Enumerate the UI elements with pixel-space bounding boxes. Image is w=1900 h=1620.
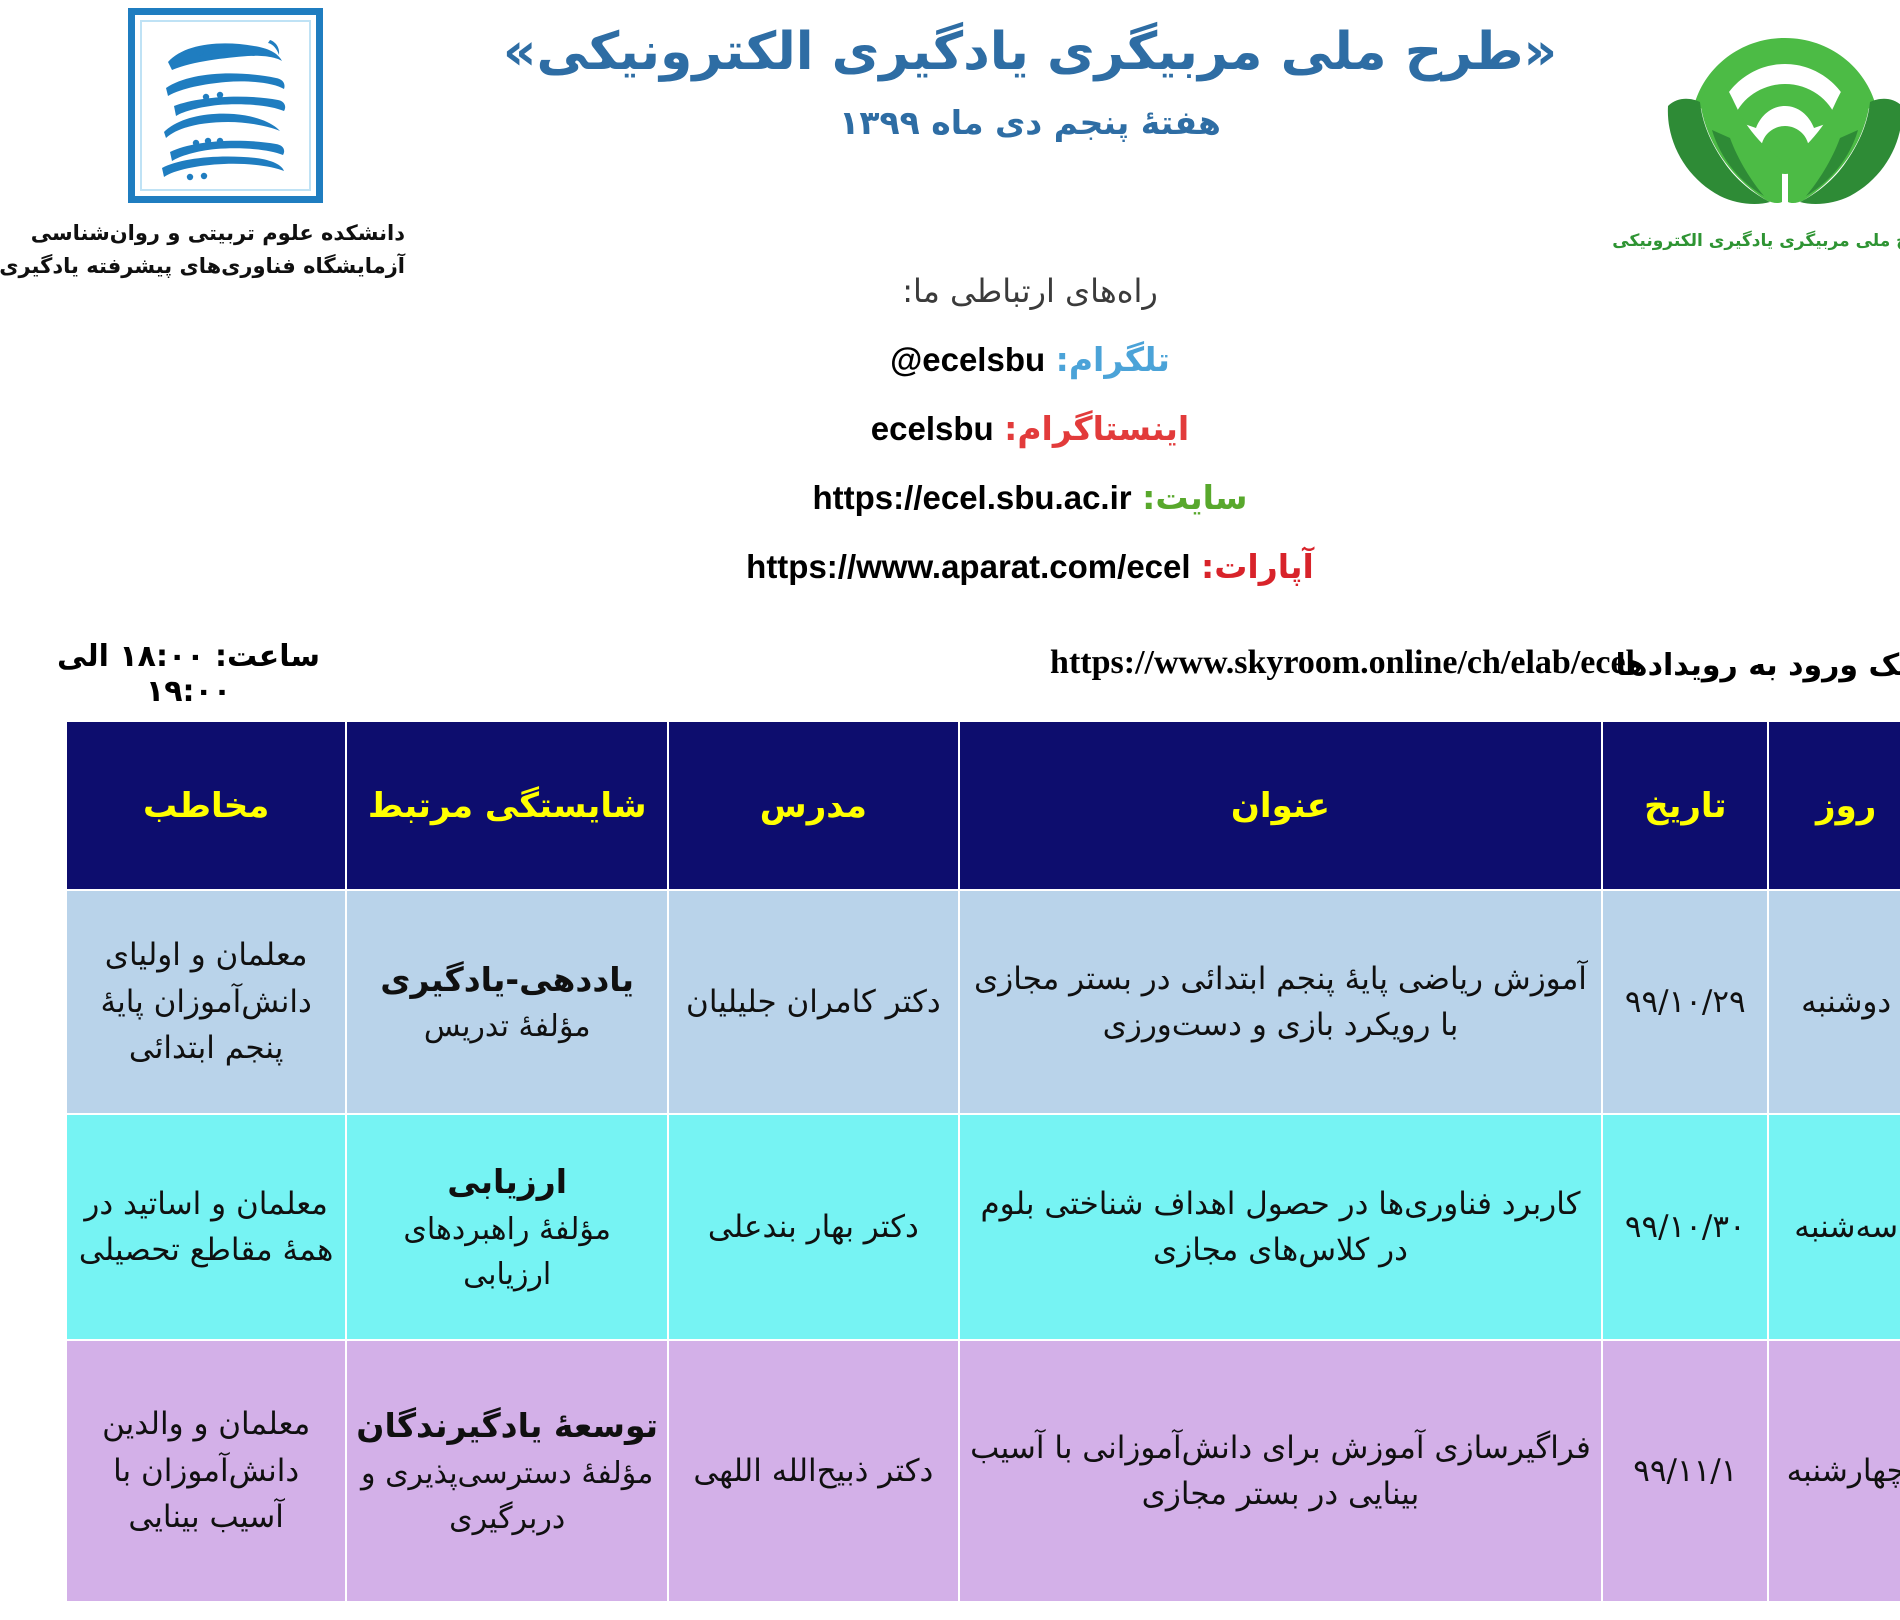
ecel-hands-wifi-icon [1615, 10, 1865, 225]
event-time-label: ساعت: ۱۸:۰۰ الی ۱۹:۰۰ [12, 640, 275, 709]
page-title: «طرح ملی مربیگری یادگیری الکترونیکی» [370, 20, 1600, 85]
cell-competency: توسعهٔ یادگیرندگان مؤلفهٔ دسترسی‌پذیری و… [301, 1340, 623, 1602]
column-header-competency: شایستگی مرتبط [301, 721, 623, 890]
competency-sub: مؤلفهٔ تدریس [310, 1004, 614, 1049]
event-link-row: لینک ورود به رویدادها https://www.skyroo… [0, 640, 1900, 710]
cell-teacher: دکتر ذبیح‌الله اللهی [623, 1340, 914, 1602]
aparat-separator: : [1156, 547, 1169, 586]
aparat-url[interactable]: https://www.aparat.com/ecel [701, 548, 1145, 586]
table-row: دوشنبه ۹۹/۱۰/۲۹ آموزش ریاضی پایهٔ پنجم ا… [21, 890, 1879, 1114]
ecel-logo-block: طرح ملی مربیگری یادگیری الکترونیکی [1590, 10, 1890, 251]
instagram-label: اینستاگرام [972, 409, 1144, 448]
title-block: «طرح ملی مربیگری یادگیری الکترونیکی» هفت… [370, 20, 1600, 142]
telegram-separator: : [1011, 340, 1024, 379]
column-header-title: عنوان [914, 721, 1558, 890]
telegram-label: تلگرام [1024, 340, 1125, 379]
aparat-label: آپارات [1169, 547, 1269, 586]
contact-heading: راه‌های ارتباطی ما: [370, 272, 1600, 310]
column-header-day: روز [1723, 721, 1879, 890]
sbu-caption: دانشکده علوم تربیتی و روان‌شناسی آزمایشگ… [0, 217, 360, 282]
contact-row-aparat: آپارات: https://www.aparat.com/ecel [370, 547, 1600, 586]
column-header-audience: مخاطب [21, 721, 301, 890]
cell-audience: معلمان و اساتید در همهٔ مقاطع تحصیلی [21, 1114, 301, 1340]
sbu-faculty-line: دانشکده علوم تربیتی و روان‌شناسی [0, 217, 360, 250]
cell-day: دوشنبه [1723, 890, 1879, 1114]
contact-row-site: سایت: https://ecel.sbu.ac.ir [370, 478, 1600, 517]
sbu-logo-block: دانشکده علوم تربیتی و روان‌شناسی آزمایشگ… [0, 8, 360, 282]
column-header-teacher: مدرس [623, 721, 914, 890]
contact-row-instagram: اینستاگرام: ecelsbu [370, 409, 1600, 448]
event-link-label: لینک ورود به رویدادها [1571, 648, 1890, 683]
cell-audience: معلمان و والدین دانش‌آموزان با آسیب بینا… [21, 1340, 301, 1602]
cell-title: فراگیرسازی آموزش برای دانش‌آموزانی با آس… [914, 1340, 1558, 1602]
cell-title: کاربرد فناوری‌ها در حصول اهداف شناختی بل… [914, 1114, 1558, 1340]
page-subtitle: هفتهٔ پنجم دی ماه ۱۳۹۹ [370, 103, 1600, 142]
competency-main: ارزیابی [310, 1157, 614, 1207]
site-label: سایت [1110, 478, 1202, 517]
competency-sub: مؤلفهٔ دسترسی‌پذیری و دربرگیری [310, 1451, 614, 1541]
instagram-separator: : [959, 409, 972, 448]
cell-date: ۹۹/۱۰/۳۰ [1557, 1114, 1723, 1340]
cell-date: ۹۹/۱۰/۲۹ [1557, 890, 1723, 1114]
table-row: چهارشنبه ۹۹/۱۱/۱ فراگیرسازی آموزش برای د… [21, 1340, 1879, 1602]
cell-day: چهارشنبه [1723, 1340, 1879, 1602]
cell-day: سه‌شنبه [1723, 1114, 1879, 1340]
competency-main: یاددهی-یادگیری [310, 955, 614, 1005]
table-row: سه‌شنبه ۹۹/۱۰/۳۰ کاربرد فناوری‌ها در حصو… [21, 1114, 1879, 1340]
instagram-handle[interactable]: ecelsbu [826, 410, 949, 448]
sbu-lab-line: آزمایشگاه فناوری‌های پیشرفته یادگیری [0, 250, 360, 283]
ecel-caption: طرح ملی مربیگری یادگیری الکترونیکی [1590, 231, 1890, 251]
cell-competency: یاددهی-یادگیری مؤلفهٔ تدریس [301, 890, 623, 1114]
cell-teacher: دکتر کامران جلیلیان [623, 890, 914, 1114]
site-url[interactable]: https://ecel.sbu.ac.ir [768, 479, 1087, 517]
poster-header: دانشکده علوم تربیتی و روان‌شناسی آزمایشگ… [0, 0, 1900, 640]
cell-competency: ارزیابی مؤلفهٔ راهبردهای ارزیابی [301, 1114, 623, 1340]
competency-sub: مؤلفهٔ راهبردهای ارزیابی [310, 1207, 614, 1297]
column-header-date: تاریخ [1557, 721, 1723, 890]
cell-title: آموزش ریاضی پایهٔ پنجم ابتدائی در بستر م… [914, 890, 1558, 1114]
contact-block: راه‌های ارتباطی ما: تلگرام: @ecelsbu این… [370, 272, 1600, 616]
cell-teacher: دکتر بهار بندعلی [623, 1114, 914, 1340]
shahid-beheshti-university-logo-icon [83, 8, 278, 203]
cell-date: ۹۹/۱۱/۱ [1557, 1340, 1723, 1602]
telegram-handle[interactable]: @ecelsbu [845, 341, 1000, 379]
event-time-line1: ساعت: ۱۸:۰۰ الی [12, 640, 275, 675]
contact-row-telegram: تلگرام: @ecelsbu [370, 340, 1600, 379]
site-separator: : [1097, 478, 1110, 517]
schedule-table: روز تاریخ عنوان مدرس شایستگی مرتبط مخاطب… [20, 720, 1880, 1603]
competency-main: توسعهٔ یادگیرندگان [310, 1401, 614, 1451]
event-link-url[interactable]: https://www.skyroom.online/ch/elab/ecel [1005, 644, 1590, 682]
event-time-line2: ۱۹:۰۰ [12, 675, 275, 710]
schedule-table-wrap: روز تاریخ عنوان مدرس شایستگی مرتبط مخاطب… [20, 720, 1880, 1603]
cell-audience: معلمان و اولیای دانش‌آموزان پایهٔ پنجم ا… [21, 890, 301, 1114]
table-header-row: روز تاریخ عنوان مدرس شایستگی مرتبط مخاطب [21, 721, 1879, 890]
sbu-calligraphy-icon [105, 28, 255, 183]
